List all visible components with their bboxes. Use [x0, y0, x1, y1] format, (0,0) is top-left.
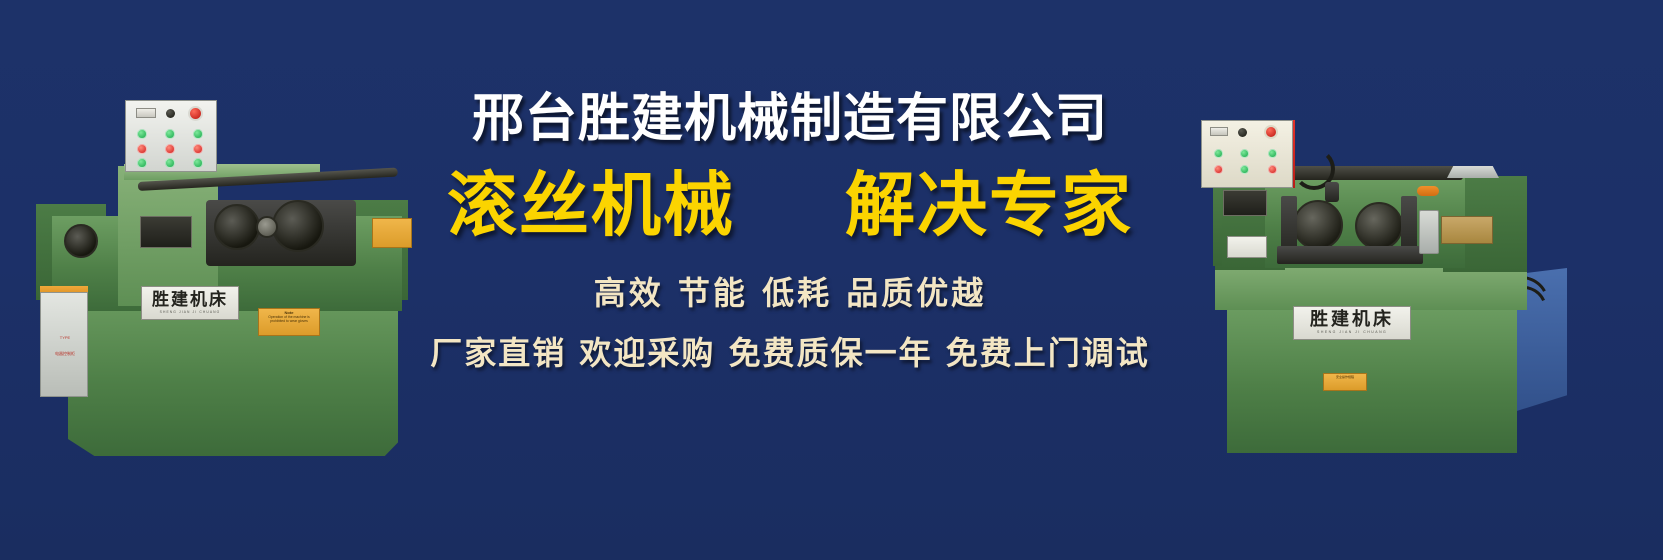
emergency-stop-icon[interactable]: [1264, 125, 1278, 139]
banner-text-block: 邢台胜建机械制造有限公司 滚丝机械 解决专家 高效 节能 低耗 品质优越 厂家直…: [390, 92, 1190, 374]
base-label-text: 安全操作规程: [1327, 376, 1363, 379]
button-r2[interactable]: [165, 144, 175, 154]
machine-image-right: 胜建机床 SHENG JIAN JI CHUANG 安全操作规程: [1165, 118, 1565, 458]
button-g4[interactable]: [137, 158, 147, 168]
machine-right-nameplate: 胜建机床 SHENG JIAN JI CHUANG: [1293, 306, 1411, 340]
nameplate-en: SHENG JIAN JI CHUANG: [1317, 331, 1387, 335]
subtitle-line-1: 高效 节能 低耗 品质优越: [390, 268, 1190, 314]
button-g1[interactable]: [137, 129, 147, 139]
company-name: 邢台胜建机械制造有限公司: [390, 92, 1190, 147]
machine-right-control-panel: [1201, 120, 1293, 188]
machine-right-cable-head: [1325, 182, 1339, 202]
machine-right-panel-stand: [1213, 188, 1222, 266]
machine-left-pulley-1: [214, 204, 260, 250]
button-r2[interactable]: [1268, 165, 1277, 174]
machine-right-small-plate: [1227, 236, 1267, 258]
selector-knob-icon[interactable]: [1238, 128, 1247, 137]
machine-left-nameplate: 胜建机床 SHENG JIAN JI CHUANG: [141, 286, 239, 320]
machine-right-die-2: [1355, 202, 1403, 250]
machine-right-hydraulic-block: [1419, 210, 1439, 254]
headline-left: 滚丝机械: [447, 169, 735, 243]
warning-text: Operation of the machine is prohibited t…: [262, 316, 316, 324]
subtitle-line-2: 厂家直销 欢迎采购 免费质保一年 免费上门调试: [390, 328, 1190, 374]
button-g3[interactable]: [1268, 149, 1277, 158]
headline-right: 解决专家: [845, 169, 1133, 243]
machine-right-die-bed: [1277, 246, 1423, 264]
nameplate-cn: 胜建机床: [152, 292, 228, 309]
headline: 滚丝机械 解决专家: [390, 169, 1190, 243]
machine-right-feed-tray: [1447, 166, 1499, 178]
button-g3[interactable]: [193, 129, 203, 139]
button-g2[interactable]: [165, 129, 175, 139]
cabinet-label-line2: 电器控制柜: [45, 351, 85, 357]
promo-banner: TYPE 电器控制柜 胜建机床 SHENG JIAN JI CHUANG Not…: [0, 0, 1663, 560]
button-g5[interactable]: [165, 158, 175, 168]
machine-left-control-panel: [125, 100, 217, 172]
button-r1[interactable]: [1214, 165, 1223, 174]
button-g1[interactable]: [1214, 149, 1223, 158]
machine-left-shaft: [256, 216, 278, 238]
nameplate-cn: 胜建机床: [1310, 311, 1394, 329]
selector-knob-icon[interactable]: [166, 109, 175, 118]
button-g2[interactable]: [1240, 149, 1249, 158]
cabinet-label-line1: TYPE: [47, 335, 83, 341]
display-icon: [136, 108, 156, 118]
machine-image-left: TYPE 电器控制柜 胜建机床 SHENG JIAN JI CHUANG Not…: [28, 96, 418, 466]
machine-left-flange: [64, 224, 98, 258]
button-g4[interactable]: [1240, 165, 1249, 174]
machine-left-warning-label: Note Operation of the machine is prohibi…: [258, 308, 320, 336]
machine-left-spec-plate: [140, 216, 192, 248]
machine-right-orange-connector: [1417, 186, 1439, 196]
machine-right-brass-plate: [1441, 216, 1493, 244]
display-icon: [1210, 127, 1228, 136]
machine-right-spec-plate: [1223, 190, 1267, 216]
machine-left-pulley-2: [272, 200, 324, 252]
machine-right-base-label: 安全操作规程: [1323, 373, 1367, 391]
button-r3[interactable]: [193, 144, 203, 154]
button-r1[interactable]: [137, 144, 147, 154]
emergency-stop-icon[interactable]: [188, 106, 203, 121]
nameplate-en: SHENG JIAN JI CHUANG: [160, 311, 221, 315]
machine-right-die-1: [1293, 200, 1343, 250]
machine-left-electrical-cabinet: TYPE 电器控制柜: [40, 292, 88, 397]
button-g6[interactable]: [193, 158, 203, 168]
